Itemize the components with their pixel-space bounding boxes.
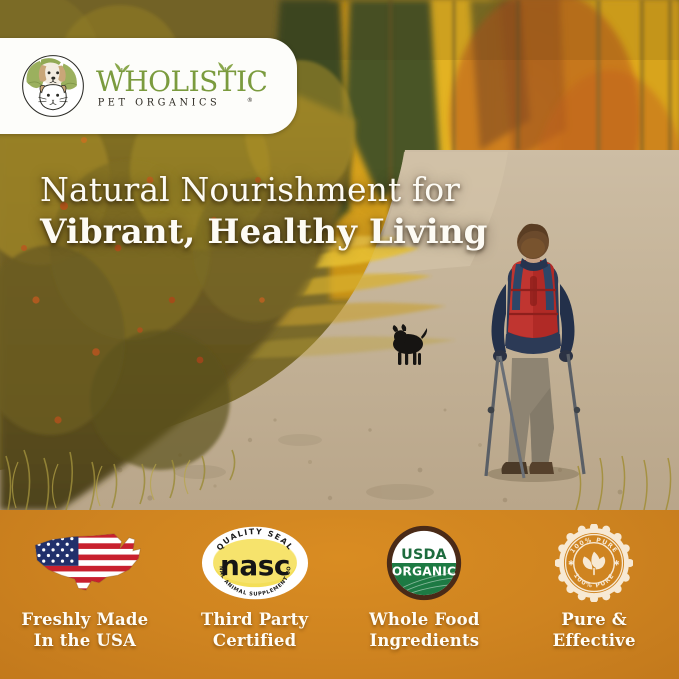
feature-band: Freshly Made In the USA — [0, 510, 679, 679]
svg-text:USDA: USDA — [402, 547, 448, 563]
feature-label-line-2: Ingredients — [369, 630, 479, 651]
feature-label: Pure & Effective — [553, 609, 636, 651]
svg-text:PET ORGANICS: PET ORGANICS — [98, 97, 221, 108]
dog-cat-leaf-circle-icon — [20, 53, 86, 119]
usa-flag-map-icon — [24, 526, 146, 600]
svg-text:✱: ✱ — [614, 558, 620, 567]
hundred-percent-pure-seal-icon: 100% PURE 100% PURE ✱ ✱ — [555, 526, 633, 600]
headline-line-2: Vibrant, Healthy Living — [40, 211, 640, 254]
feature-label-line-1: Third Party — [201, 609, 308, 630]
brand-wordmark-group: WHOLISTIC PET ORGANICS ® — [96, 62, 274, 110]
svg-text:✱: ✱ — [568, 558, 574, 567]
marketing-banner: WHOLISTIC PET ORGANICS ® Natural Nourish… — [0, 0, 679, 679]
feature-label: Freshly Made In the USA — [21, 609, 148, 651]
svg-text:nasc: nasc — [220, 549, 290, 582]
feature-label: Third Party Certified — [201, 609, 308, 651]
brand-logo-plaque[interactable]: WHOLISTIC PET ORGANICS ® — [0, 38, 297, 134]
svg-text:WHOLISTIC: WHOLISTIC — [96, 65, 267, 96]
feature-pure-effective: 100% PURE 100% PURE ✱ ✱ Pure & Effective — [509, 510, 679, 679]
feature-label-line-2: In the USA — [21, 630, 148, 651]
feature-freshly-made-usa: Freshly Made In the USA — [0, 510, 170, 679]
feature-whole-food-ingredients: USDA ORGANIC Whole Food Ingredients — [340, 510, 510, 679]
svg-text:ORGANIC: ORGANIC — [392, 565, 456, 579]
feature-label-line-2: Effective — [553, 630, 636, 651]
nasc-quality-seal-icon: QUALITY SEAL nasc NATIONAL ANIMAL SUPPLE… — [199, 526, 311, 600]
headline-line-1: Natural Nourishment for — [40, 168, 640, 211]
usda-organic-seal-icon: USDA ORGANIC — [386, 526, 462, 600]
feature-label: Whole Food Ingredients — [369, 609, 479, 651]
feature-label-line-1: Pure & — [553, 609, 636, 630]
pet-organics-subwordmark: PET ORGANICS ® — [96, 94, 274, 110]
svg-text:®: ® — [247, 97, 253, 104]
wholistic-wordmark: WHOLISTIC — [96, 62, 274, 96]
hero-headline: Natural Nourishment for Vibrant, Healthy… — [40, 168, 640, 254]
feature-label-line-1: Freshly Made — [21, 609, 148, 630]
feature-third-party-certified: QUALITY SEAL nasc NATIONAL ANIMAL SUPPLE… — [170, 510, 340, 679]
feature-label-line-2: Certified — [201, 630, 308, 651]
feature-label-line-1: Whole Food — [369, 609, 479, 630]
